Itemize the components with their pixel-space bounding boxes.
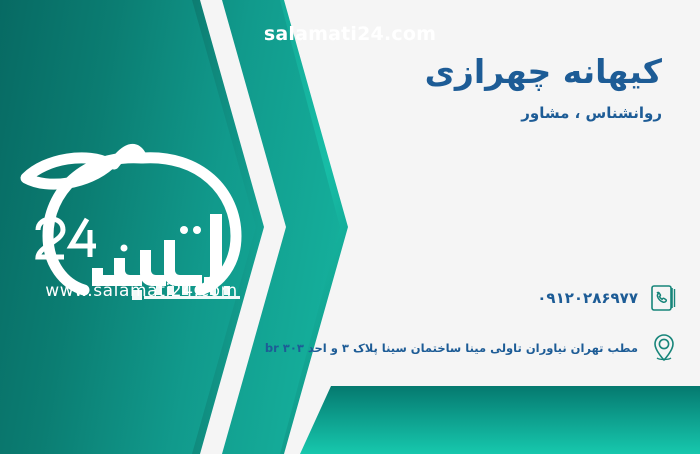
- person-title: روانشناس ، مشاور: [521, 104, 662, 122]
- business-card: www.salamati24.com کیهانه چهرازی روانشنا…: [0, 0, 700, 454]
- location-pin-icon: [646, 330, 682, 366]
- brand-logo: www.salamati24.com: [14, 118, 269, 308]
- card-content: کیهانه چهرازی روانشناس ، مشاور ۰۹۱۲۰۲۸۶۹…: [340, 0, 700, 454]
- contact-list: ۰۹۱۲۰۲۸۶۹۷۷ مطب تهران نیاوران تاولی مینا…: [340, 280, 682, 380]
- address-text: مطب تهران نیاوران تاولی مینا ساختمان سین…: [265, 341, 646, 355]
- phone-number: ۰۹۱۲۰۲۸۶۹۷۷: [537, 289, 646, 307]
- logo-website-url: www.salamati24.com: [14, 281, 269, 301]
- apple-leaf-icon: [14, 118, 269, 308]
- contact-row-address[interactable]: مطب تهران نیاوران تاولی مینا ساختمان سین…: [340, 330, 682, 366]
- footer-website[interactable]: salamati24.com: [0, 0, 700, 68]
- contact-row-phone[interactable]: ۰۹۱۲۰۲۸۶۹۷۷: [340, 280, 682, 316]
- phone-book-icon: [646, 280, 682, 316]
